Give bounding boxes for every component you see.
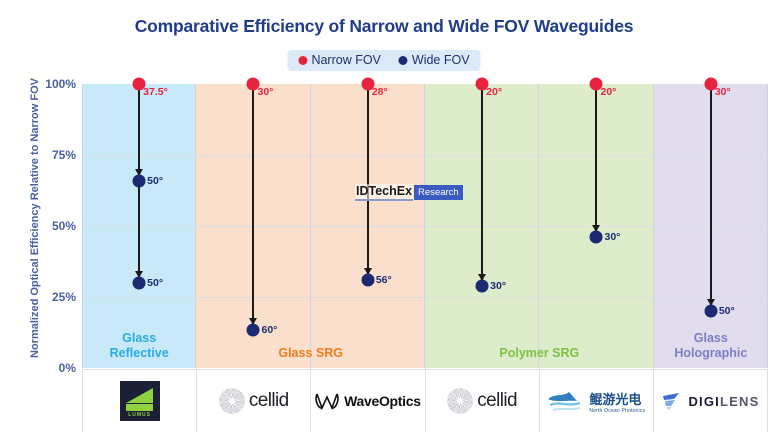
logo-cell-waveoptics: WaveOptics — [311, 370, 425, 432]
digilens-mark-icon — [661, 391, 683, 411]
data-point-label-narrow-fov: 20° — [486, 86, 502, 98]
connector-stem — [595, 84, 597, 232]
data-point-label-narrow-fov: 20° — [600, 86, 616, 98]
logo-cell-cellid-2: cellid — [426, 370, 540, 432]
legend-item-narrow-fov: Narrow FOV — [298, 53, 380, 67]
cellid-logo-text: cellid — [249, 390, 289, 412]
data-point-label-narrow-fov: 30° — [257, 86, 273, 98]
data-point-wide-fov[interactable] — [247, 323, 260, 336]
north-ocean-en-text: North Ocean Photonics — [589, 408, 645, 414]
data-point-label-wide-fov: 56° — [376, 274, 392, 286]
y-axis-title: Normalized Optical Efficiency Relative t… — [29, 53, 41, 383]
data-point-wide-fov[interactable] — [133, 276, 146, 289]
logo-strip: LUMUS cellid WaveOptics cellid — [82, 369, 768, 432]
legend-dot-narrow-icon — [298, 56, 307, 65]
data-point-label-wide-fov: 30° — [490, 280, 506, 292]
data-point-wide-fov[interactable] — [133, 174, 146, 187]
data-point-wide-fov[interactable] — [590, 231, 603, 244]
data-column-1: 37.5°50°50° — [82, 84, 196, 368]
connector-stem — [252, 84, 254, 325]
y-tick-label-100: 100% — [16, 77, 76, 91]
connector-stem — [481, 84, 483, 281]
chart-root: Comparative Efficiency of Narrow and Wid… — [0, 0, 768, 432]
logo-cell-cellid-1: cellid — [197, 370, 311, 432]
connector-stem — [367, 84, 369, 275]
plot-area: GlassReflectiveGlass SRGPolymer SRGGlass… — [82, 84, 768, 368]
lumus-logo-text: LUMUS — [120, 412, 160, 418]
data-point-label-wide-fov: 60° — [261, 324, 277, 336]
digilens-bold-text: DIGI — [688, 394, 720, 409]
cellid-swirl-icon-2 — [447, 388, 473, 414]
watermark: IDTechEx Research — [355, 184, 463, 201]
y-tick-label-0: 0% — [16, 361, 76, 375]
logo-cell-lumus: LUMUS — [82, 370, 197, 432]
logo-cell-digilens: DIGILENS — [654, 370, 768, 432]
data-point-label-wide-fov: 50° — [719, 305, 735, 317]
connector-stem — [710, 84, 712, 306]
data-column-4: 20°30° — [425, 84, 539, 368]
waveoptics-logo-icon: WaveOptics — [315, 391, 421, 411]
logo-cell-north-ocean: 鲲游光电 North Ocean Photonics — [540, 370, 654, 432]
y-tick-label-75: 75% — [16, 148, 76, 162]
legend-dot-wide-icon — [399, 56, 408, 65]
data-column-6: 30°50° — [654, 84, 768, 368]
digilens-logo-icon: DIGILENS — [661, 391, 759, 411]
lumus-logo-icon: LUMUS — [120, 381, 160, 421]
waveoptics-mark-icon — [315, 391, 339, 411]
watermark-tag: Research — [414, 185, 463, 200]
data-point-label-narrow-fov: 30° — [715, 86, 731, 98]
data-point-wide-fov[interactable] — [361, 273, 374, 286]
north-ocean-logo-icon: 鲲游光电 North Ocean Photonics — [547, 388, 645, 414]
data-point-wide-fov[interactable] — [704, 305, 717, 318]
data-point-label-narrow-fov: 37.5° — [143, 86, 168, 98]
data-point-label-narrow-fov: 28° — [372, 86, 388, 98]
data-point-label-wide-fov: 50° — [147, 277, 163, 289]
cellid-logo-icon: cellid — [219, 388, 289, 414]
chart-legend: Narrow FOV Wide FOV — [287, 50, 480, 71]
data-point-wide-fov[interactable] — [476, 279, 489, 292]
waveoptics-logo-text: WaveOptics — [344, 393, 421, 409]
data-point-label-wide-fov: 50° — [147, 175, 163, 187]
north-ocean-cn-text: 鲲游光电 — [589, 389, 645, 408]
data-point-label-wide-fov: 30° — [604, 231, 620, 243]
cellid-swirl-icon — [219, 388, 245, 414]
legend-label-wide: Wide FOV — [412, 53, 470, 67]
data-column-2: 30°60° — [196, 84, 310, 368]
digilens-light-text: LENS — [720, 394, 759, 409]
y-tick-label-25: 25% — [16, 290, 76, 304]
cellid-logo-icon-2: cellid — [447, 388, 517, 414]
north-ocean-wave-icon — [547, 388, 585, 414]
y-tick-label-50: 50% — [16, 219, 76, 233]
chart-title: Comparative Efficiency of Narrow and Wid… — [0, 16, 768, 37]
watermark-name: IDTechEx — [355, 184, 413, 201]
data-column-5: 20°30° — [539, 84, 653, 368]
data-column-3: 28°56° — [311, 84, 425, 368]
cellid-logo-text-2: cellid — [477, 390, 517, 412]
legend-label-narrow: Narrow FOV — [311, 53, 380, 67]
legend-item-wide-fov: Wide FOV — [399, 53, 470, 67]
